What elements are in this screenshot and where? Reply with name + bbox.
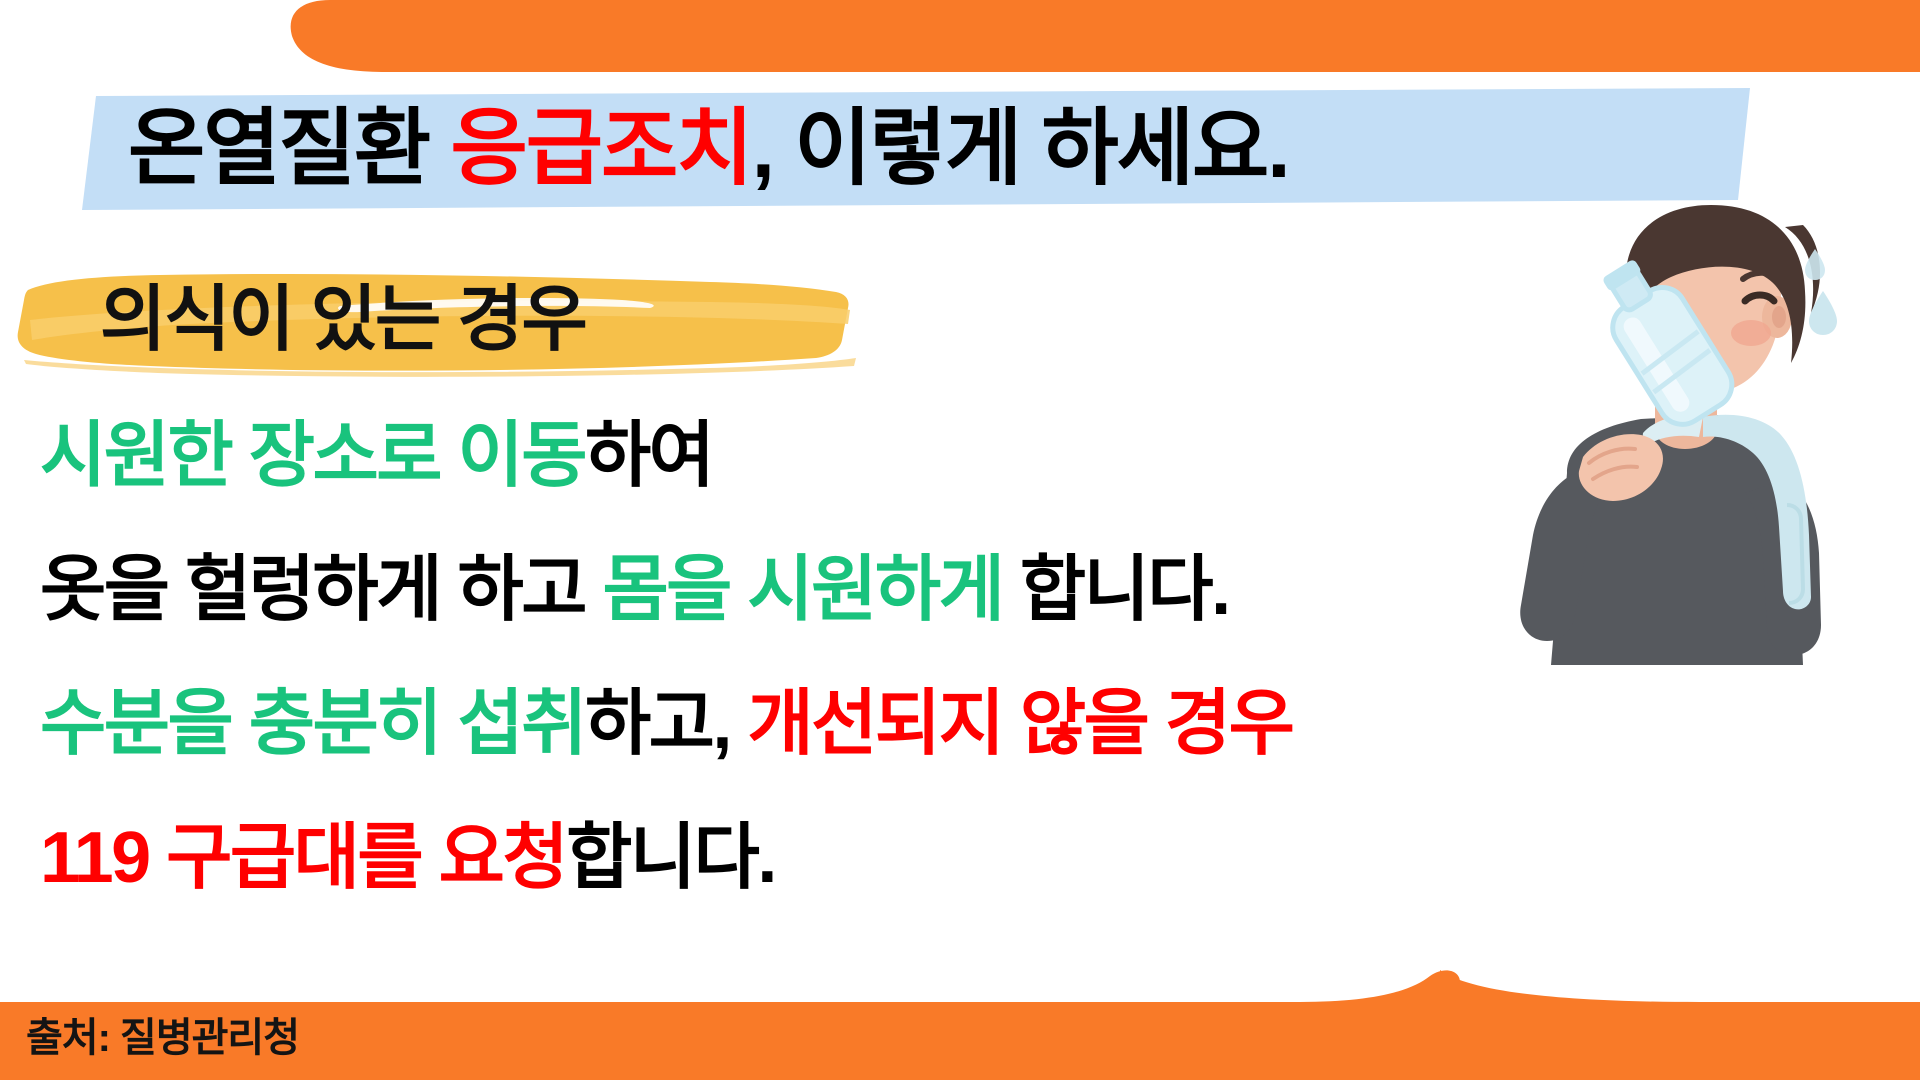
title-part-emergency: 응급조치 [450,101,751,195]
source-credit: 출처: 질병관리청 [26,1018,299,1058]
line2-seg-black-1: 옷을 헐렁하게 하고 [40,550,602,630]
body-line-1: 시원한 장소로 이동하여 [40,420,1760,492]
subtitle-block: 의식이 있는 경우 [10,262,890,382]
footer-orange-banner: 출처: 질병관리청 [0,970,1920,1080]
title-part-1: 온열질환 [128,101,450,195]
line4-seg-red: 119 구급대를 요청 [40,818,566,898]
line3-seg-green: 수분을 충분히 섭취 [40,684,585,764]
body-line-2: 옷을 헐렁하게 하고 몸을 시원하게 합니다. [40,554,1760,626]
line1-seg-black: 하여 [585,416,712,496]
body-line-3: 수분을 충분히 섭취하고, 개선되지 않을 경우 [40,688,1760,760]
line2-seg-green: 몸을 시원하게 [602,550,1002,630]
line3-seg-red: 개선되지 않을 경우 [747,684,1292,764]
poster-canvas: 온열질환 응급조치, 이렇게 하세요. 의식이 있는 경우 [0,0,1920,1080]
top-orange-banner [0,0,1920,90]
body-text-block: 시원한 장소로 이동하여 옷을 헐렁하게 하고 몸을 시원하게 합니다. 수분을… [40,420,1760,956]
line2-seg-black-2: 합니다. [1002,550,1228,630]
line4-seg-black: 합니다. [566,818,775,898]
line1-seg-green: 시원한 장소로 이동 [40,416,585,496]
body-line-4: 119 구급대를 요청합니다. [40,822,1760,894]
line3-seg-black: 하고, [585,684,748,764]
page-title: 온열질환 응급조치, 이렇게 하세요. [128,106,1289,190]
title-banner: 온열질환 응급조치, 이렇게 하세요. [0,88,1750,218]
subtitle-text: 의식이 있는 경우 [100,284,586,356]
title-part-3: , 이렇게 하세요. [752,101,1289,195]
